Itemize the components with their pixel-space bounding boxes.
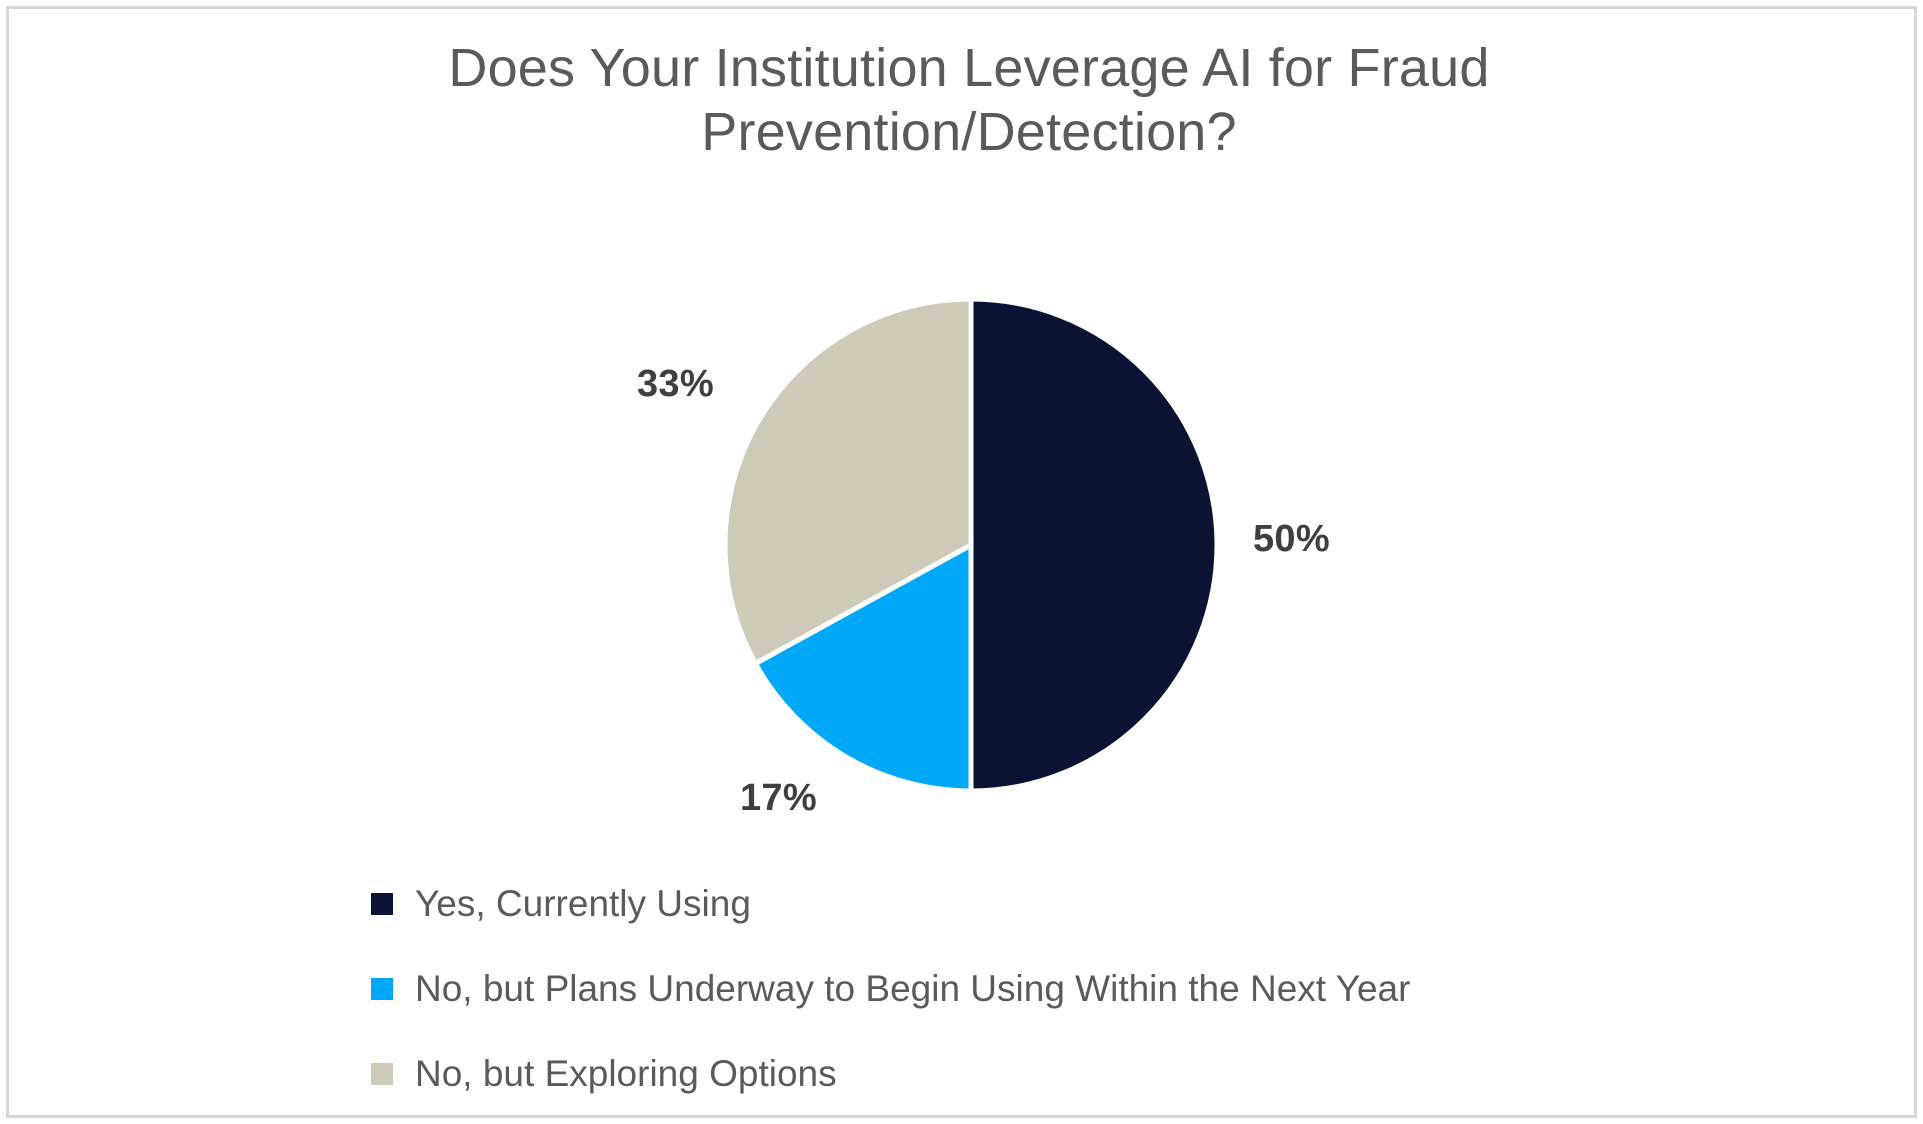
chart-title-line-2: Prevention/Detection? [701, 102, 1237, 162]
legend-item-yes-currently-using[interactable]: Yes, Currently Using [371, 861, 1671, 946]
chart-canvas: Does Your Institution Leverage AI for Fr… [0, 0, 1923, 1124]
legend-swatch-icon [371, 893, 393, 915]
pie-data-label-exploring-options: 33% [637, 363, 714, 406]
legend-item-label: No, but Plans Underway to Begin Using Wi… [415, 970, 1410, 1007]
chart-frame: Does Your Institution Leverage AI for Fr… [6, 6, 1917, 1118]
legend-item-exploring-options[interactable]: No, but Exploring Options [371, 1031, 1671, 1116]
chart-legend: Yes, Currently Using No, but Plans Under… [371, 861, 1671, 1116]
pie-data-label-yes-currently-using: 50% [1253, 518, 1330, 561]
chart-title: Does Your Institution Leverage AI for Fr… [239, 37, 1699, 164]
legend-item-label: No, but Exploring Options [415, 1055, 837, 1092]
pie-svg [722, 296, 1220, 794]
pie-slice-group [725, 299, 1217, 791]
pie-data-label-plans-underway: 17% [740, 777, 817, 820]
pie-slice[interactable] [971, 299, 1217, 791]
legend-item-plans-underway[interactable]: No, but Plans Underway to Begin Using Wi… [371, 946, 1671, 1031]
pie-chart [722, 296, 1220, 794]
legend-swatch-icon [371, 1063, 393, 1085]
legend-item-label: Yes, Currently Using [415, 885, 751, 922]
chart-title-line-1: Does Your Institution Leverage AI for Fr… [448, 38, 1489, 98]
legend-swatch-icon [371, 978, 393, 1000]
